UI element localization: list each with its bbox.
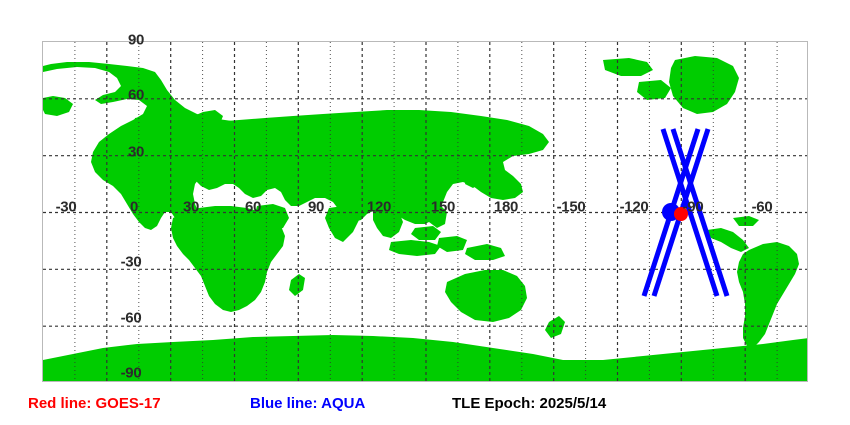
satellite-ground-track-map: 90 60 30 -30 -60 -90 -30 0 30 60 90 120 … [0,0,850,425]
world-map-panel[interactable] [42,41,808,382]
legend-red-line-goes17: Red line: GOES-17 [28,395,161,412]
world-map-svg [43,42,808,382]
legend-tle-epoch: TLE Epoch: 2025/5/14 [452,395,606,412]
goes17-satellite-marker[interactable] [674,207,688,221]
legend-bar: Red line: GOES-17 Blue line: AQUA TLE Ep… [0,392,850,425]
legend-blue-line-aqua: Blue line: AQUA [250,395,365,412]
